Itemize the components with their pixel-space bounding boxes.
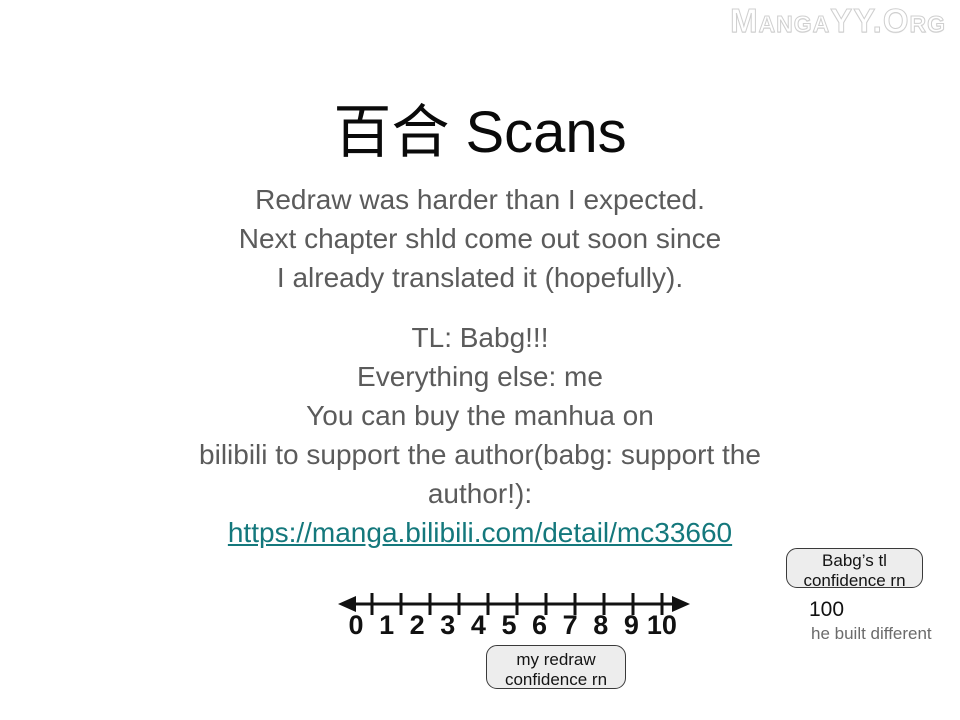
callout-line: my redraw bbox=[497, 650, 615, 670]
number-line-tick-label: 8 bbox=[593, 610, 608, 640]
note-line: I already translated it (hopefully). bbox=[80, 258, 880, 297]
page-root: MangaYY.Org 百合 Scans Redraw was harder t… bbox=[0, 0, 960, 720]
number-line-tick-label: 9 bbox=[624, 610, 639, 640]
credit-line-support-author: bilibili to support the author(babg: sup… bbox=[80, 435, 880, 474]
note-paragraph-credits: TL: Babg!!! Everything else: me You can … bbox=[80, 318, 880, 552]
page-title-latin: Scans bbox=[449, 100, 626, 165]
number-line-tick-label: 6 bbox=[532, 610, 547, 640]
number-line-tick-label: 4 bbox=[471, 610, 486, 640]
callout-line: confidence rn bbox=[795, 571, 914, 591]
note-line: Next chapter shld come out soon since bbox=[80, 219, 880, 258]
page-title-cjk: 百合 bbox=[333, 98, 449, 166]
credit-line-everything-else: Everything else: me bbox=[80, 357, 880, 396]
number-line-tick-label: 0 bbox=[348, 610, 363, 640]
score-caption: he built different bbox=[811, 624, 932, 644]
callout-my-redraw-confidence: my redraw confidence rn bbox=[486, 645, 626, 689]
credit-line-support-author-cont: author!): bbox=[80, 474, 880, 513]
number-line-labels: 0 1 2 3 4 5 6 7 8 9 10 bbox=[356, 610, 692, 640]
number-line-tick-label: 2 bbox=[410, 610, 425, 640]
number-line-tick-label: 3 bbox=[440, 610, 455, 640]
bilibili-manga-link[interactable]: https://manga.bilibili.com/detail/mc3366… bbox=[228, 517, 732, 548]
score-value: 100 bbox=[809, 598, 844, 622]
page-title: 百合 Scans bbox=[0, 97, 960, 168]
credit-line-tl: TL: Babg!!! bbox=[80, 318, 880, 357]
number-line: 0 1 2 3 4 5 6 7 8 9 10 bbox=[336, 588, 692, 646]
number-line-tick-label: 1 bbox=[379, 610, 394, 640]
site-watermark: MangaYY.Org bbox=[730, 2, 946, 40]
callout-line: confidence rn bbox=[497, 670, 615, 690]
credit-line-buy-manhua: You can buy the manhua on bbox=[80, 396, 880, 435]
number-line-tick-label: 5 bbox=[501, 610, 516, 640]
note-paragraph-redraw: Redraw was harder than I expected. Next … bbox=[80, 180, 880, 297]
callout-line: Babg’s tl bbox=[795, 551, 914, 571]
number-line-tick-label: 7 bbox=[563, 610, 578, 640]
note-line: Redraw was harder than I expected. bbox=[80, 180, 880, 219]
callout-babg-tl-confidence: Babg’s tl confidence rn bbox=[786, 548, 923, 588]
number-line-tick-label: 10 bbox=[647, 610, 677, 640]
